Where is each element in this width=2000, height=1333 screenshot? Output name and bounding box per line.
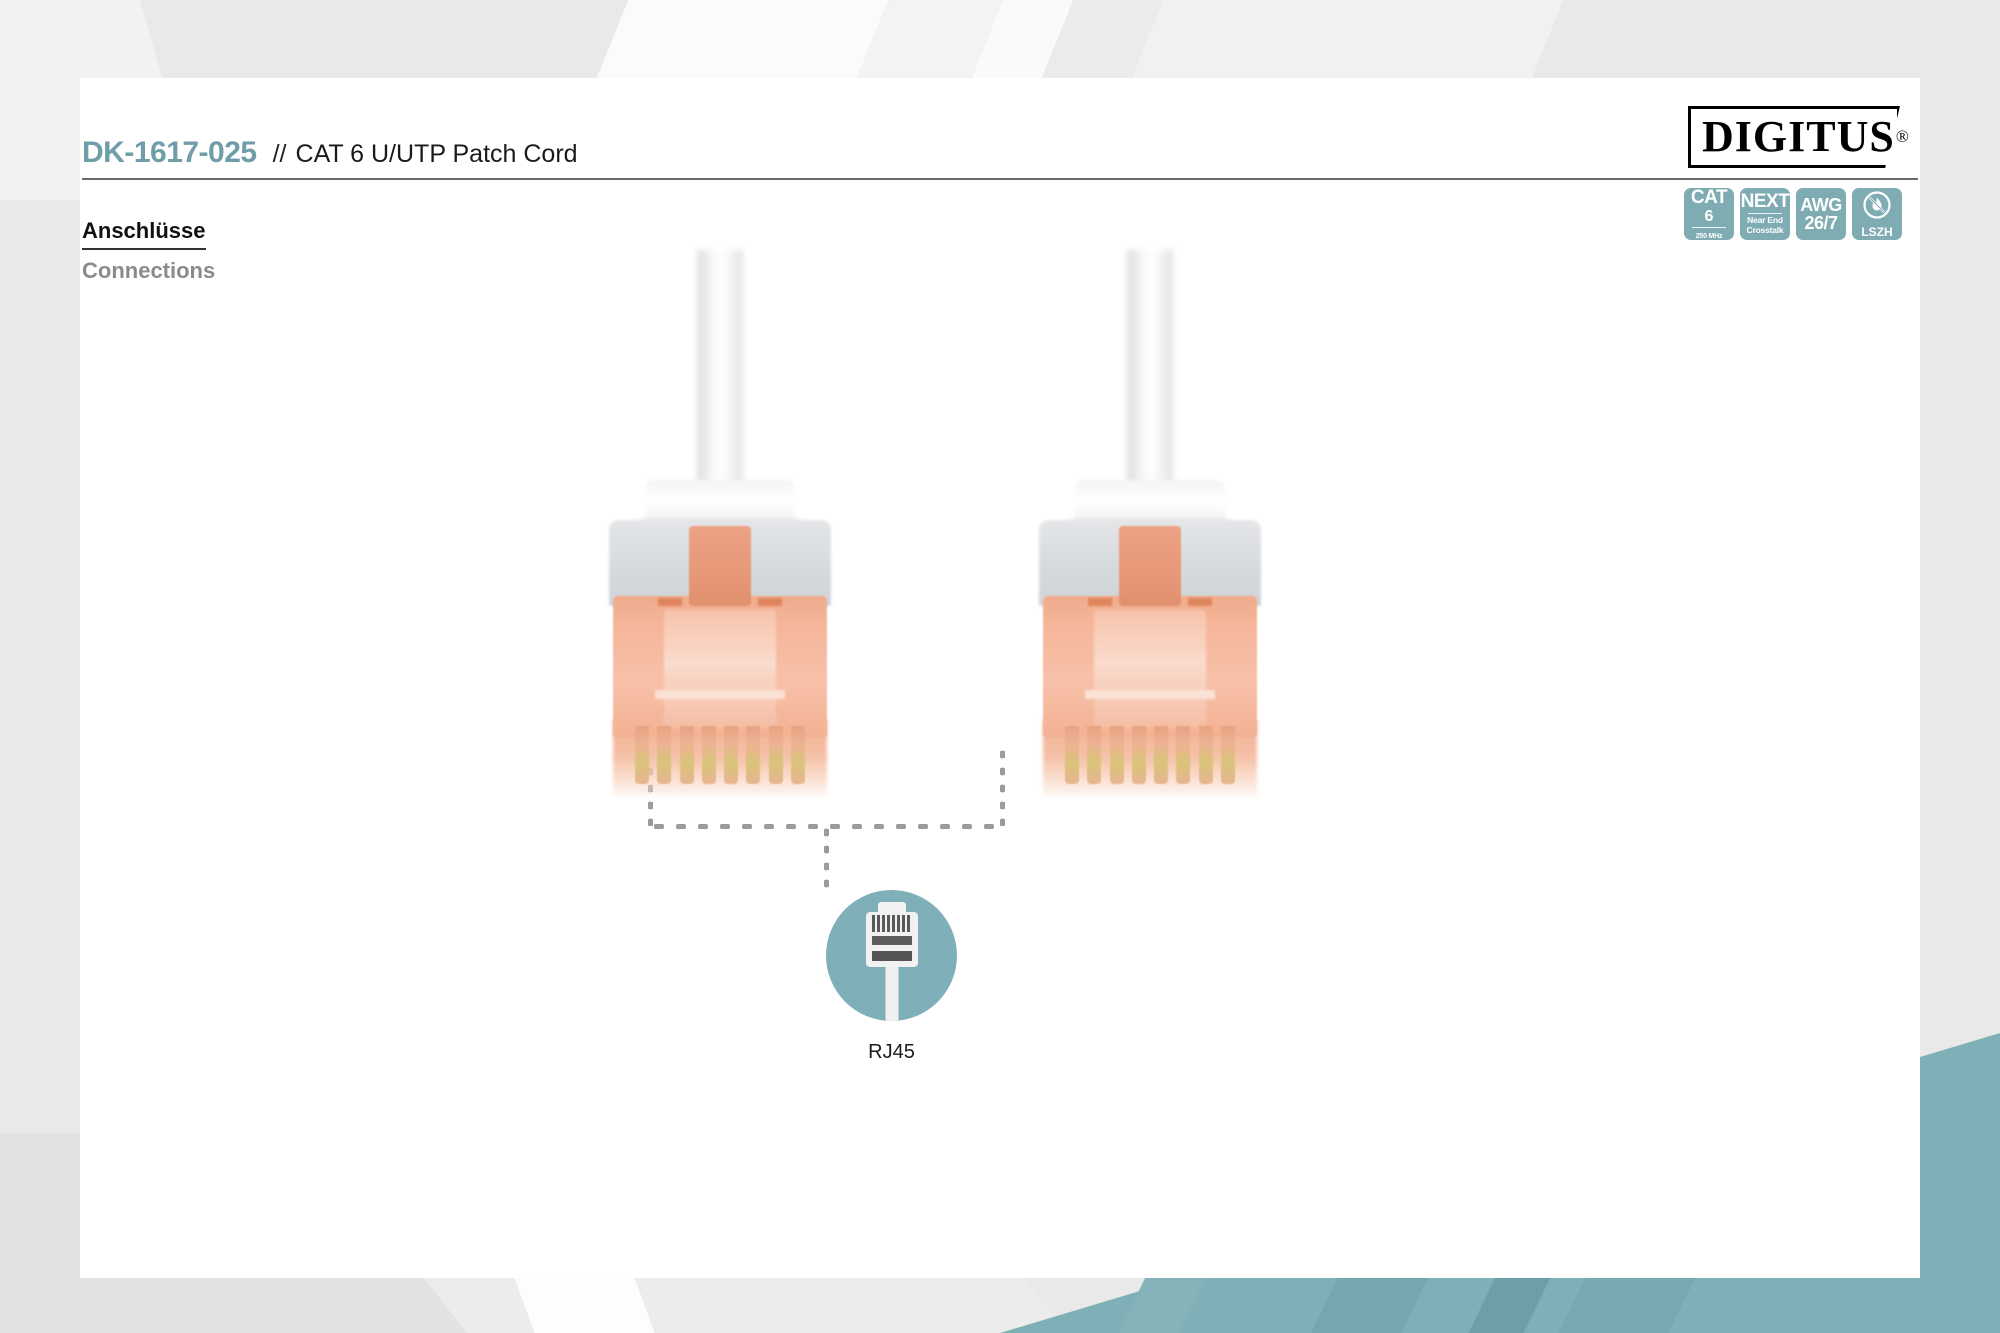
latch-left	[689, 526, 751, 606]
rj45-band-upper	[872, 936, 912, 945]
badge-cat6-line1: CAT	[1691, 188, 1727, 207]
title-divider	[82, 178, 1918, 180]
badge-awg-line2: 26/7	[1804, 214, 1837, 232]
pin	[680, 726, 694, 784]
rj45-plug-right	[1000, 258, 1300, 858]
pin	[1065, 726, 1079, 784]
badge-next: NEXT Near End Crosstalk	[1740, 188, 1790, 240]
rj45-label: RJ45	[868, 1041, 915, 1064]
badge-next-line1: NEXT	[1741, 192, 1790, 211]
badge-awg: AWG 26/7	[1796, 188, 1846, 240]
pin	[702, 726, 716, 784]
pin	[657, 726, 671, 784]
pin	[1199, 726, 1213, 784]
rj45-jack-icon	[826, 890, 957, 1021]
rj45-band-lower	[872, 951, 912, 961]
pin	[1087, 726, 1101, 784]
leader-line-right-vertical	[1000, 746, 1005, 826]
badge-next-rule	[1748, 213, 1782, 214]
product-diagram: RJ45	[80, 258, 1920, 878]
gold-pins-right	[1065, 726, 1235, 788]
pin	[791, 726, 805, 784]
pin	[1221, 726, 1235, 784]
pin	[1110, 726, 1124, 784]
page-title: CAT 6 U/UTP Patch Cord	[296, 140, 578, 169]
latch-notch-right-a	[1088, 598, 1112, 606]
pin	[1154, 726, 1168, 784]
pin	[769, 726, 783, 784]
latch-notch-left-a	[658, 598, 682, 606]
feature-badges: CAT 6 250 MHz NEXT Near End Crosstalk AW…	[1684, 188, 1902, 240]
leader-line-center-vertical	[824, 824, 829, 890]
body-sheen-right	[1094, 610, 1206, 728]
rj45-pins	[872, 915, 912, 932]
latch-notch-right-b	[1188, 598, 1212, 606]
gold-pins-left	[635, 726, 805, 788]
badge-cat6-line2: 6	[1705, 209, 1714, 225]
badge-cat6-rule	[1692, 227, 1726, 228]
pin	[724, 726, 738, 784]
no-flame-icon	[1862, 190, 1892, 224]
rj45-cable	[885, 966, 898, 1021]
badge-cat6-line3: 250 MHz	[1696, 233, 1723, 240]
rj45-plug-left	[570, 258, 870, 858]
badge-cat6: CAT 6 250 MHz	[1684, 188, 1734, 240]
page-title-row: DK-1617-025 // CAT 6 U/UTP Patch Cord	[80, 136, 1922, 170]
body-sheen-left	[664, 610, 776, 728]
body-slot-right	[1085, 690, 1215, 699]
pin	[746, 726, 760, 784]
content-card: DIGITUS ® DK-1617-025 // CAT 6 U/UTP Pat…	[80, 78, 1920, 1278]
pin	[635, 726, 649, 784]
pin	[1176, 726, 1190, 784]
pin	[1132, 726, 1146, 784]
section-heading-de: Anschlüsse	[82, 218, 206, 250]
body-slot-left	[655, 690, 785, 699]
badge-lszh-label: LSZH	[1861, 226, 1892, 238]
badge-lszh: LSZH	[1852, 188, 1902, 240]
latch-notch-left-b	[758, 598, 782, 606]
badge-awg-line1: AWG	[1800, 196, 1842, 214]
rj45-callout: RJ45	[826, 890, 957, 1064]
badge-next-sub2: Crosstalk	[1747, 226, 1784, 236]
product-sku: DK-1617-025	[82, 136, 257, 170]
page-root: DIGITUS ® DK-1617-025 // CAT 6 U/UTP Pat…	[0, 0, 2000, 1333]
title-separator: //	[273, 140, 287, 169]
latch-right	[1119, 526, 1181, 606]
